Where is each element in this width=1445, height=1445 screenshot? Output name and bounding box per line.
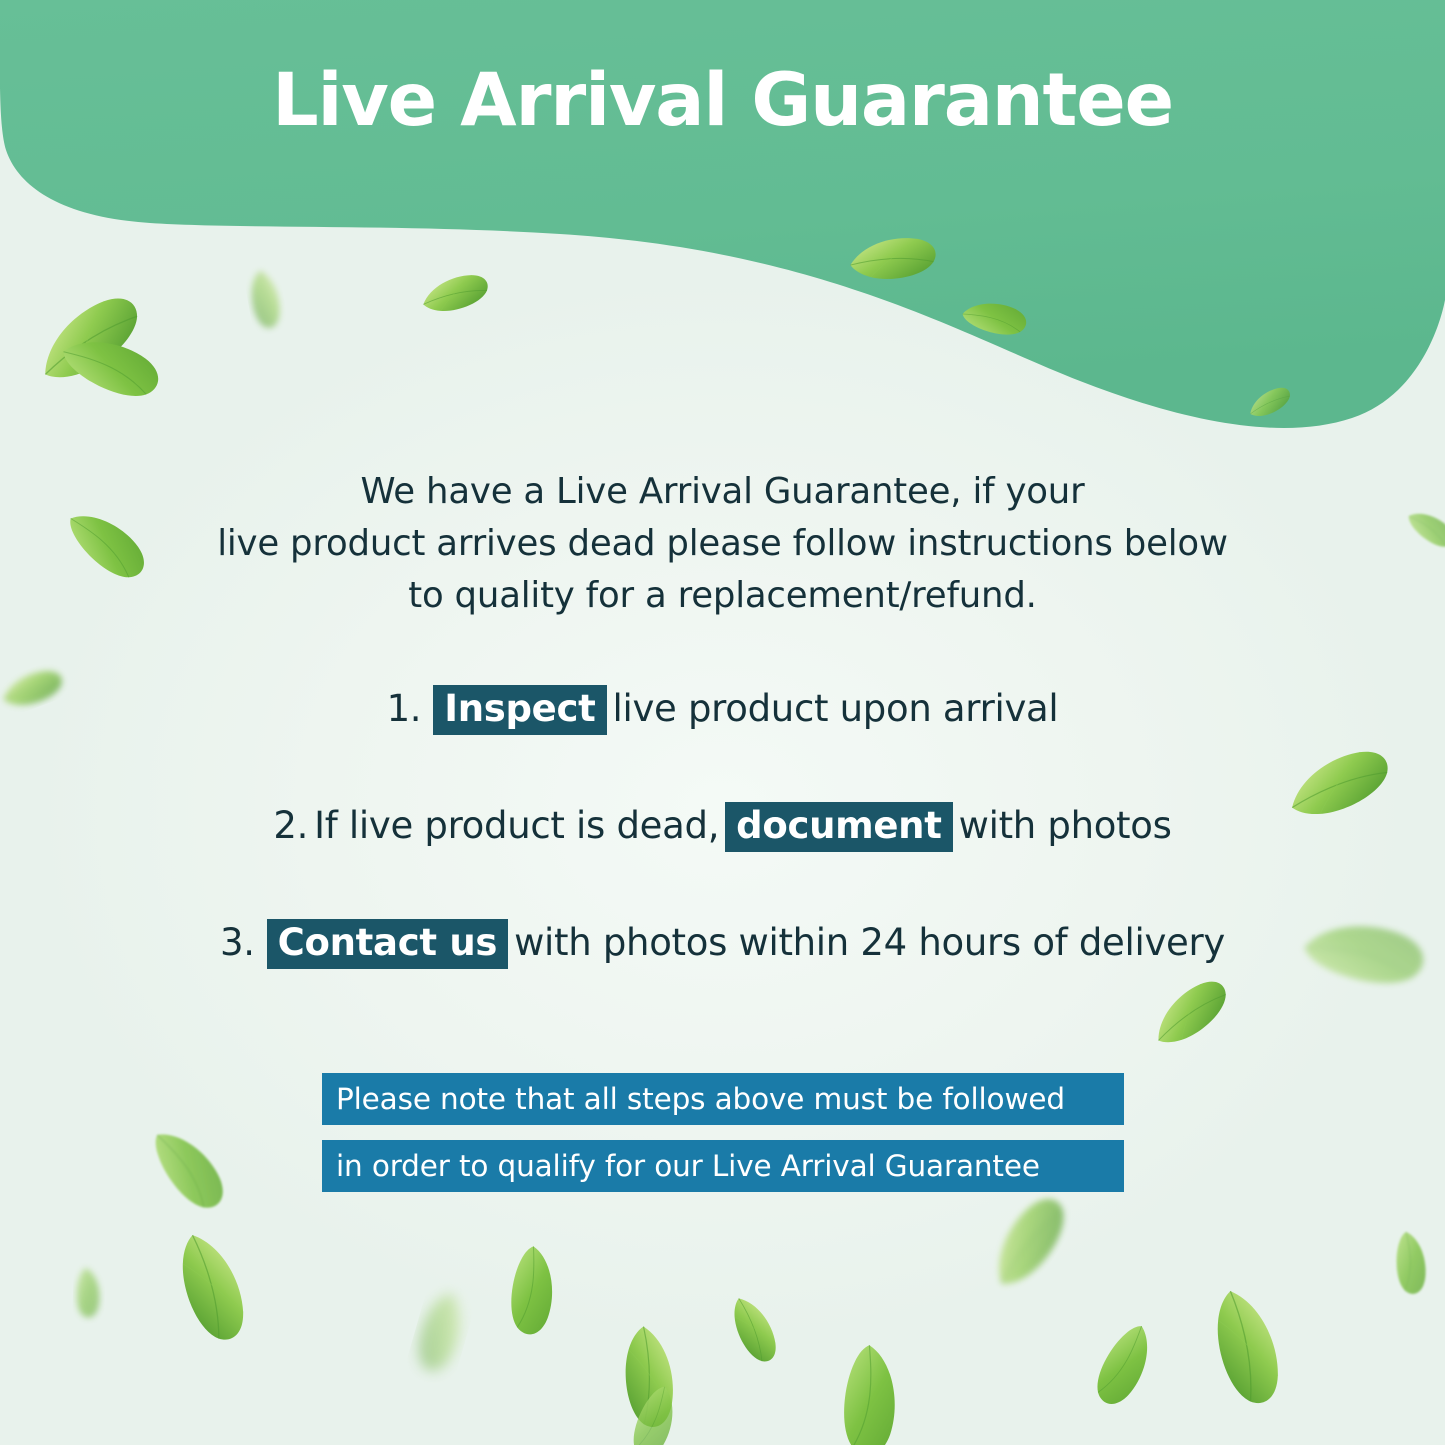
intro-line-3: to quality for a replacement/refund. xyxy=(0,570,1445,622)
steps-list: 1.Inspectlive product upon arrival 2.If … xyxy=(0,684,1445,1035)
step-item-2: 2.If live product is dead,documentwith p… xyxy=(0,801,1445,852)
step-text-after: live product upon arrival xyxy=(613,687,1059,730)
step-item-3: 3.Contact uswith photos within 24 hours … xyxy=(0,918,1445,969)
intro-line-2: live product arrives dead please follow … xyxy=(0,518,1445,570)
step-text-after: with photos within 24 hours of delivery xyxy=(514,921,1225,964)
leaf-icon xyxy=(618,1322,681,1435)
leaf-icon xyxy=(409,1286,473,1380)
step-highlight-inspect: Inspect xyxy=(433,685,606,735)
live-arrival-guarantee-infographic: Live Arrival Guarantee We have a Live Ar… xyxy=(0,0,1445,1445)
note-banner-line-2: in order to qualify for our Live Arrival… xyxy=(322,1140,1124,1192)
page-title: Live Arrival Guarantee xyxy=(0,64,1445,137)
leaf-icon xyxy=(723,1289,788,1371)
step-number: 1. xyxy=(387,687,422,730)
step-item-1: 1.Inspectlive product upon arrival xyxy=(0,684,1445,735)
step-text-after: with photos xyxy=(959,804,1172,847)
note-banners: Please note that all steps above must be… xyxy=(322,1073,1124,1192)
intro-paragraph: We have a Live Arrival Guarantee, if you… xyxy=(0,466,1445,622)
leaf-icon xyxy=(75,1266,103,1321)
leaf-icon xyxy=(623,1379,688,1445)
step-highlight-document: document xyxy=(725,802,952,852)
leaf-icon xyxy=(167,1223,260,1353)
leaf-icon xyxy=(141,1113,239,1222)
leaf-icon xyxy=(505,1240,564,1341)
leaf-icon xyxy=(1084,1315,1168,1417)
step-highlight-contact-us: Contact us xyxy=(267,919,508,969)
intro-line-1: We have a Live Arrival Guarantee, if you… xyxy=(0,466,1445,518)
leaf-icon xyxy=(837,1338,907,1445)
step-number: 2. xyxy=(273,804,308,847)
step-number: 3. xyxy=(220,921,255,964)
note-banner-line-1: Please note that all steps above must be… xyxy=(322,1073,1124,1125)
leaf-icon xyxy=(979,1183,1080,1299)
step-text-before: If live product is dead, xyxy=(314,804,719,847)
leaf-icon xyxy=(1202,1280,1294,1416)
leaf-icon xyxy=(1394,1228,1430,1297)
